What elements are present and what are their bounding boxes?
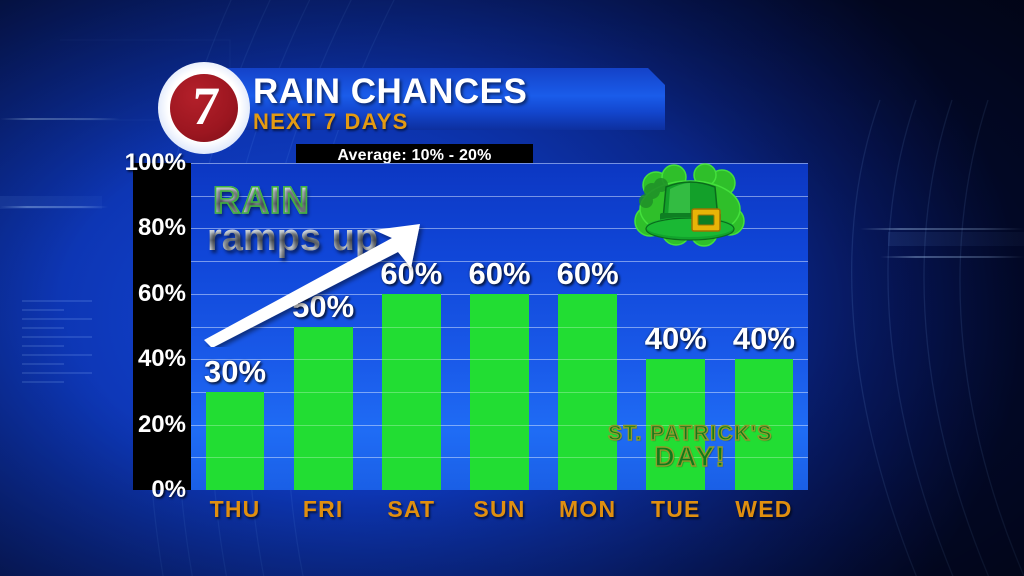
- bar-gridline: [470, 359, 529, 360]
- x-axis-day-label: THU: [210, 496, 261, 523]
- bar-gridline: [382, 392, 441, 393]
- y-axis-panel: [133, 163, 191, 490]
- holiday-line2: DAY!: [608, 444, 773, 471]
- bar-gridline: [206, 457, 265, 458]
- logo-disc: 7: [170, 74, 238, 142]
- bar-value-label: 30%: [204, 354, 266, 390]
- y-axis-tick-label: 100%: [125, 149, 186, 177]
- chart-bar: [206, 392, 265, 490]
- logo-digit: 7: [190, 79, 221, 133]
- y-axis-tick-label: 60%: [138, 280, 186, 308]
- bar-gridline: [558, 392, 617, 393]
- bar-value-label: 40%: [733, 321, 795, 357]
- x-axis-day-label: MON: [559, 496, 616, 523]
- bar-gridline: [735, 392, 794, 393]
- page-subtitle: NEXT 7 DAYS: [253, 109, 408, 135]
- page-title: RAIN CHANCES: [253, 72, 527, 112]
- bar-gridline: [294, 359, 353, 360]
- bar-gridline: [470, 392, 529, 393]
- header: 7 RAIN CHANCES NEXT 7 DAYS Average: 10% …: [0, 0, 1024, 150]
- bar-gridline: [558, 327, 617, 328]
- bar-gridline: [646, 392, 705, 393]
- y-axis-tick-label: 0%: [151, 476, 186, 504]
- bar-gridline: [470, 457, 529, 458]
- channel-7-logo-icon: 7: [158, 62, 250, 154]
- x-axis-day-label: TUE: [651, 496, 701, 523]
- bar-gridline: [206, 425, 265, 426]
- bar-gridline: [382, 359, 441, 360]
- bar-gridline: [382, 425, 441, 426]
- average-banner-label: Average: 10% - 20%: [337, 147, 491, 165]
- bar-gridline: [470, 327, 529, 328]
- x-axis-day-label: SAT: [387, 496, 435, 523]
- y-axis-tick-label: 20%: [138, 411, 186, 439]
- chart-bar: [470, 294, 529, 490]
- bar-gridline: [470, 425, 529, 426]
- y-axis-tick-label: 40%: [138, 345, 186, 373]
- x-axis-day-label: SUN: [473, 496, 525, 523]
- bar-gridline: [294, 425, 353, 426]
- up-right-arrow-icon: [196, 222, 426, 347]
- bar-value-label: 60%: [468, 256, 530, 292]
- bar-value-label: 40%: [645, 321, 707, 357]
- bar-value-label: 60%: [557, 256, 619, 292]
- st-patricks-day-annotation: ST. PATRICK'S DAY!: [608, 424, 773, 471]
- bar-gridline: [382, 457, 441, 458]
- x-axis-day-label: WED: [735, 496, 792, 523]
- chart-bar: [294, 327, 353, 491]
- bar-gridline: [294, 392, 353, 393]
- x-axis-day-label: FRI: [303, 496, 344, 523]
- bar-gridline: [294, 457, 353, 458]
- y-axis-tick-label: 80%: [138, 214, 186, 242]
- bar-gridline: [558, 359, 617, 360]
- leprechaun-hat-shamrock-icon: [630, 163, 750, 255]
